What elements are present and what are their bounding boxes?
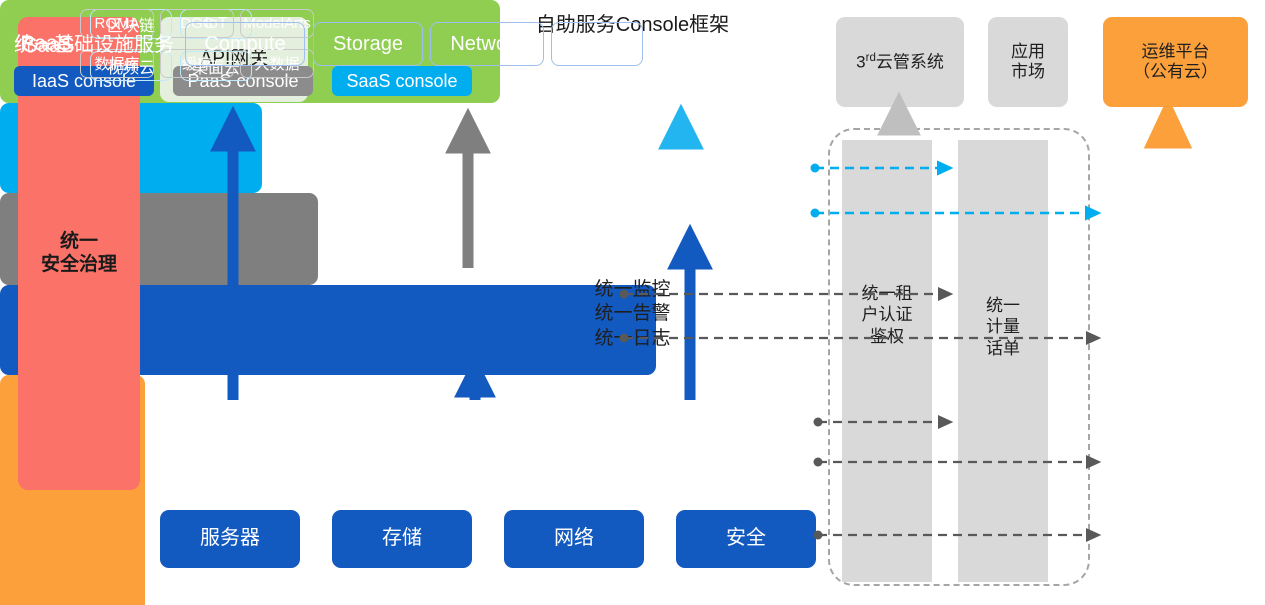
resource-box-storage: 存储 (332, 510, 472, 568)
app-market-line1: 应用 (1011, 42, 1045, 62)
third-party-label: 3rd云管系统 (856, 52, 944, 73)
third-party-superscript: rd (866, 52, 876, 64)
infra-chip-network[interactable]: Network (430, 22, 544, 66)
resource-box-network: 网络 (504, 510, 644, 568)
security-governance-line1: 统一 (41, 231, 117, 253)
third-party-prefix: 3 (856, 52, 865, 71)
ops-platform-public-cloud-box: 运维平台 （公有云） (1103, 17, 1248, 107)
security-governance-line2: 安全治理 (41, 254, 117, 276)
arrow-ops-panel-to-ops-top (1154, 112, 1182, 146)
third-party-cloud-mgmt-box: 3rd云管系统 (836, 17, 964, 107)
ops-panel-text: 统一监控 统一告警 统一日志 (0, 278, 1265, 351)
ops-line1: 统一监控 (0, 278, 1265, 302)
arrow-paas-to-console (454, 120, 482, 268)
arrow-shared-to-third-party (886, 104, 912, 130)
saas-console-chip[interactable]: SaaS console (332, 66, 472, 96)
arrow-saas-to-saas-console (667, 116, 695, 146)
ops-line2: 统一告警 (0, 302, 1265, 326)
app-market-box: 应用 市场 (988, 17, 1068, 107)
infra-chip-cce[interactable]: CCE (551, 22, 643, 66)
ops-line3: 统一日志 (0, 327, 1265, 351)
resource-box-security: 安全 (676, 510, 816, 568)
infra-chip-storage[interactable]: Storage (313, 22, 423, 66)
infra-chip-compute[interactable]: Compute (185, 22, 305, 66)
ops-top-line2: （公有云） (1133, 62, 1218, 82)
infrastructure-label: 统一基础设施服务 (14, 28, 174, 57)
resource-box-server: 服务器 (160, 510, 300, 568)
ops-top-line1: 运维平台 (1133, 42, 1218, 62)
architecture-diagram: 统一 安全治理 API网关 自助服务Console框架 IaaS console… (0, 0, 1265, 605)
app-market-line2: 市场 (1011, 62, 1045, 82)
third-party-suffix: 云管系统 (876, 52, 944, 71)
